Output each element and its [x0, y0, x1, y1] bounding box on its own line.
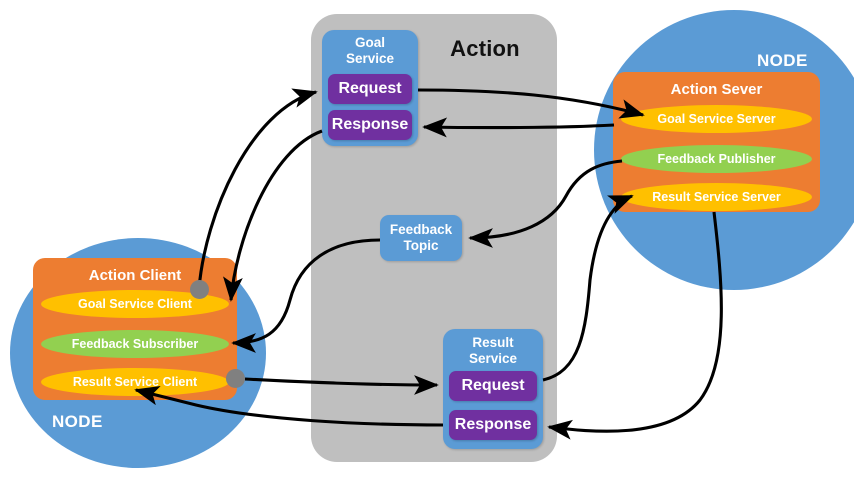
goal-service-request-box[interactable]: Request: [328, 74, 412, 104]
goal-service-title: Goal Service: [322, 35, 418, 67]
action-panel-title: Action: [430, 36, 540, 62]
diagram-canvas: Action NODE NODE Action Client Goal Serv…: [0, 0, 854, 480]
feedback-topic-label: Feedback Topic: [390, 222, 452, 254]
pill-result-service-client[interactable]: Result Service Client: [41, 368, 229, 396]
result-service-title-line2: Service: [469, 351, 517, 366]
pill-feedback-subscriber[interactable]: Feedback Subscriber: [41, 330, 229, 358]
action-client-box: Action Client Goal Service Client Feedba…: [33, 258, 237, 400]
action-server-title: Action Sever: [613, 81, 820, 98]
feedback-topic-box[interactable]: Feedback Topic: [380, 215, 462, 261]
action-client-title: Action Client: [33, 267, 237, 284]
result-service-title: Result Service: [443, 335, 543, 367]
feedback-topic-line2: Topic: [404, 238, 439, 253]
client-node-label: NODE: [52, 412, 103, 432]
server-node-label: NODE: [757, 51, 808, 71]
goal-service-response-box[interactable]: Response: [328, 110, 412, 140]
result-service-request-box[interactable]: Request: [449, 371, 537, 401]
pill-feedback-publisher[interactable]: Feedback Publisher: [621, 145, 812, 173]
goal-service-title-line1: Goal: [355, 35, 385, 50]
result-service-response-box[interactable]: Response: [449, 410, 537, 440]
pill-result-service-server[interactable]: Result Service Server: [621, 183, 812, 211]
action-server-box: Action Sever Goal Service Server Feedbac…: [613, 72, 820, 212]
connector-dot-result-client: [226, 369, 245, 388]
feedback-topic-line1: Feedback: [390, 222, 452, 237]
arrow-goal-response-to-client: [231, 131, 322, 300]
goal-service-title-line2: Service: [346, 51, 394, 66]
result-service-box: Result Service Request Response: [443, 329, 543, 449]
goal-service-box: Goal Service Request Response: [322, 30, 418, 146]
result-service-title-line1: Result: [472, 335, 513, 350]
connector-dot-goal-client: [190, 280, 209, 299]
pill-goal-service-server[interactable]: Goal Service Server: [621, 105, 812, 133]
